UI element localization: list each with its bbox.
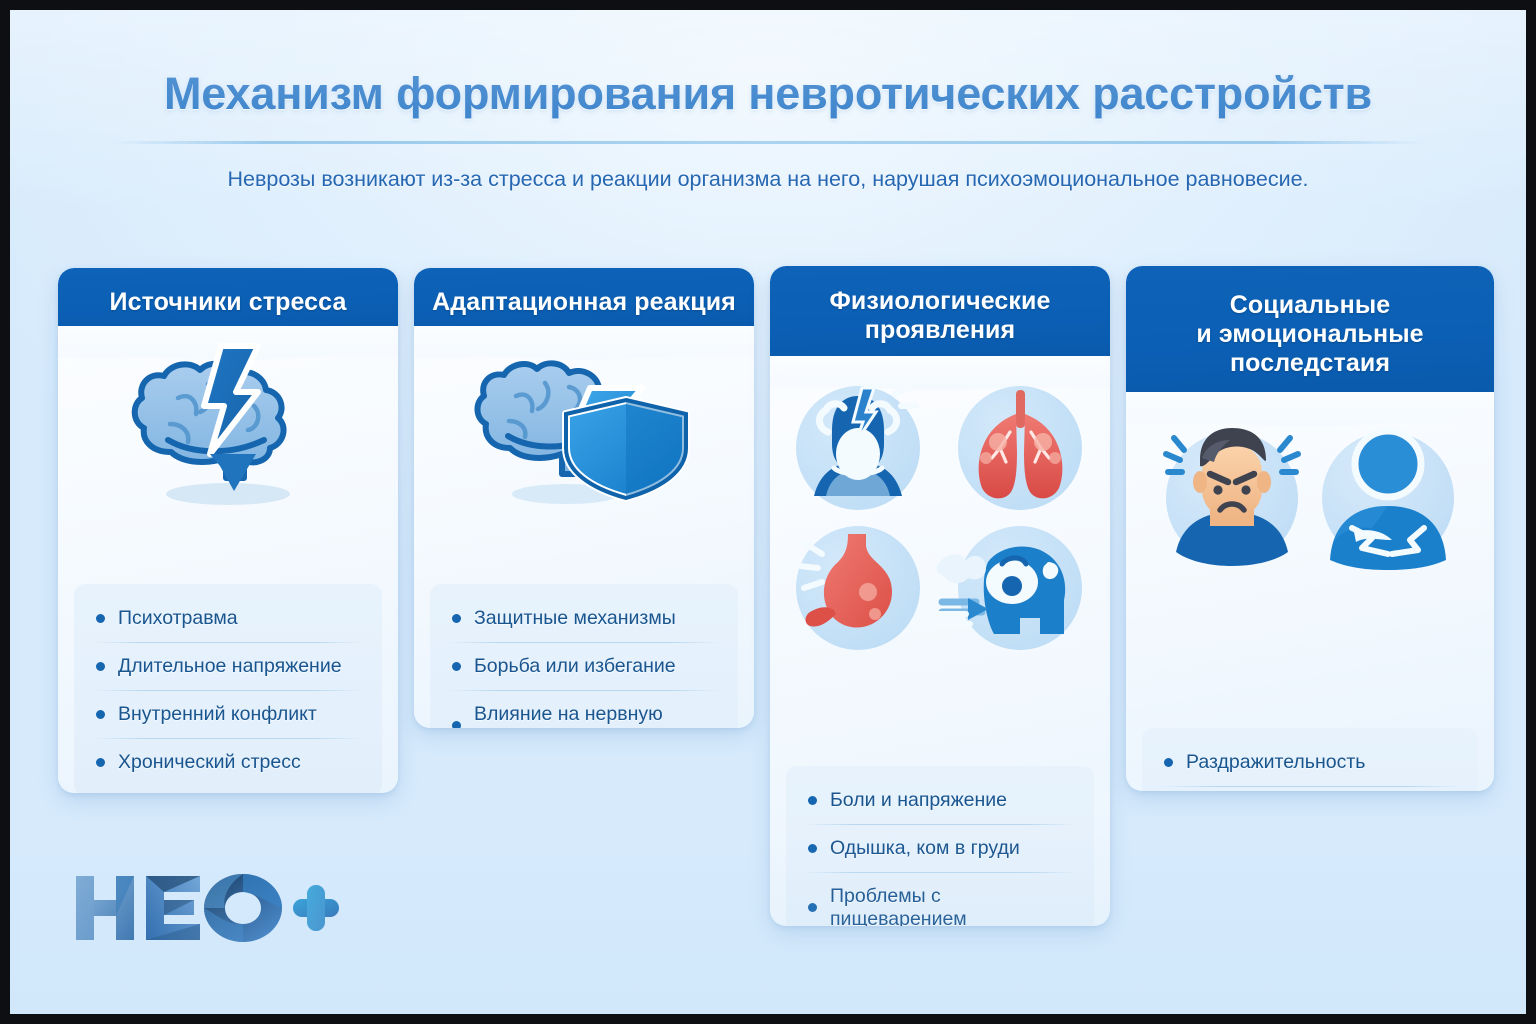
neo-plus-logo	[72, 868, 342, 948]
bullet-icon	[452, 614, 461, 623]
list-item: Длительное напряжение	[74, 642, 382, 690]
card-body: Боли и напряжение Одышка, ком в груди Пр…	[770, 366, 1110, 666]
brain-lightning-icon	[58, 336, 398, 516]
card-icon-zone	[58, 336, 398, 516]
list-item-label: Влияние на нервную систему	[474, 703, 724, 729]
list-item-label: Боли и напряжение	[830, 789, 1007, 812]
list-item: Внутренний конфликт	[74, 690, 382, 738]
list-item-label: Хронический стресс	[118, 751, 301, 774]
card-list: Боли и напряжение Одышка, ком в груди Пр…	[786, 766, 1094, 926]
card-title: Физиологические проявления	[829, 287, 1050, 345]
bullet-icon	[808, 903, 817, 912]
list-item-label: Психотравма	[118, 607, 238, 630]
bullet-icon	[452, 662, 461, 671]
list-item-label: Внутренний конфликт	[118, 703, 317, 726]
card-adaptive-reaction: Адаптационная реакция	[414, 268, 754, 728]
bullet-icon	[808, 844, 817, 853]
list-item: Раздражительность	[1142, 738, 1478, 786]
card-physiological-manifestations: Физиологические проявления	[770, 266, 1110, 926]
infographic-poster: Механизм формирования невротических расс…	[10, 10, 1526, 1014]
bullet-icon	[96, 710, 105, 719]
list-item: Боли и напряжение	[786, 776, 1094, 824]
card-body: Раздражительность Конфликты Одиночество	[1126, 402, 1494, 592]
list-item: Одышка, ком в груди	[786, 824, 1094, 872]
card-header: Адаптационная реакция	[414, 268, 754, 336]
list-item-label: Проблемы с пищеварением	[830, 885, 1080, 927]
card-social-emotional-consequences: Социальные и эмоциональные последстаия	[1126, 266, 1494, 791]
list-item-label: Одышка, ком в груди	[830, 837, 1020, 860]
list-item-label: Раздражительность	[1186, 751, 1365, 774]
card-icon-zone	[1126, 402, 1494, 592]
list-item: Борьба или избегание	[430, 642, 738, 690]
list-item: Проблемы с пищеварением	[786, 872, 1094, 926]
card-header: Физиологические проявления	[770, 266, 1110, 366]
card-header: Источники стресса	[58, 268, 398, 336]
list-item: Хронический стресс	[74, 738, 382, 786]
bullet-icon	[96, 662, 105, 671]
bullet-icon	[96, 758, 105, 767]
bullet-icon	[808, 796, 817, 805]
bullet-icon	[96, 614, 105, 623]
bullet-icon	[452, 721, 461, 728]
page-title: Механизм формирования невротических расс…	[10, 68, 1526, 120]
angry-and-lonely-person-icons	[1126, 402, 1494, 592]
card-title: Адаптационная реакция	[432, 288, 736, 317]
card-body: Защитные механизмы Борьба или избегание …	[414, 336, 754, 516]
card-icon-zone	[770, 366, 1110, 666]
card-list: Психотравма Длительное напряжение Внутре…	[74, 584, 382, 793]
card-body: Психотравма Длительное напряжение Внутре…	[58, 336, 398, 516]
list-item: Защитные механизмы	[430, 594, 738, 642]
neo-plus-logo-icon	[72, 868, 342, 948]
list-item-label: Защитные механизмы	[474, 607, 676, 630]
card-title: Источники стресса	[110, 288, 347, 317]
card-title: Социальные и эмоциональные последстаия	[1196, 291, 1423, 378]
list-item: Влияние на нервную систему	[430, 690, 738, 728]
list-item-label: Длительное напряжение	[118, 655, 342, 678]
list-item: Конфликты	[1142, 786, 1478, 791]
list-item: Психотравма	[74, 594, 382, 642]
list-item-label: Борьба или избегание	[474, 655, 676, 678]
page-subtitle: Неврозы возникают из-за стресса и реакци…	[10, 167, 1526, 192]
card-sources-of-stress: Источники стресса	[58, 268, 398, 793]
card-list: Защитные механизмы Борьба или избегание …	[430, 584, 738, 728]
card-header: Социальные и эмоциональные последстаия	[1126, 266, 1494, 402]
physiological-symptoms-icon-grid	[770, 366, 1110, 666]
title-divider	[110, 141, 1426, 144]
card-list: Раздражительность Конфликты Одиночество	[1142, 728, 1478, 791]
bullet-icon	[1164, 758, 1173, 767]
brain-shield-lightning-icon	[414, 336, 754, 516]
card-icon-zone	[414, 336, 754, 516]
